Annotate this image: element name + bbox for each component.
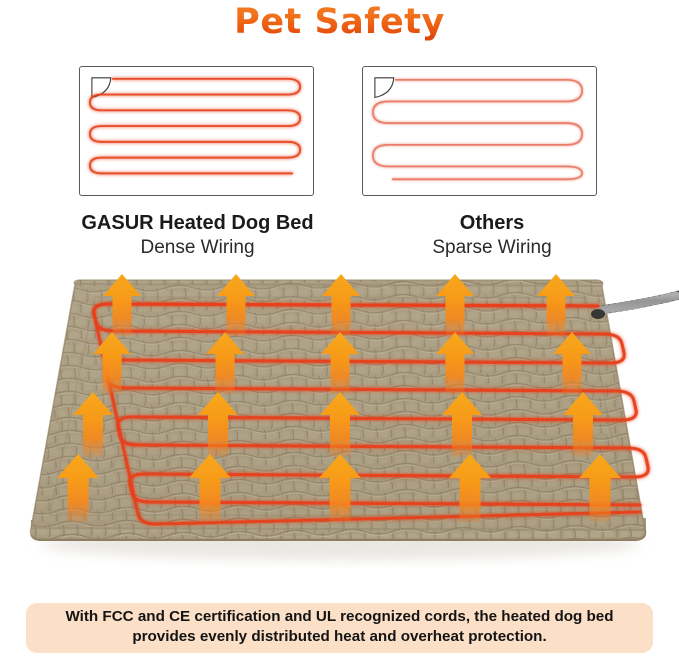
heated-dog-bed-mat [0, 262, 679, 592]
page-title: Pet Safety [0, 2, 679, 42]
label-others-title: Others [352, 211, 632, 236]
label-others-subtitle: Sparse Wiring [352, 236, 632, 260]
pet-safety-infographic: Pet Safety [0, 0, 679, 661]
cord-grommet [591, 309, 605, 319]
label-block-gasur: GASUR Heated Dog Bed Dense Wiring [40, 211, 355, 260]
folded-corner-icon [375, 78, 394, 98]
dense-wire-path [90, 79, 300, 174]
label-gasur-subtitle: Dense Wiring [40, 236, 355, 260]
certification-caption: With FCC and CE certification and UL rec… [26, 603, 653, 653]
label-gasur-title: GASUR Heated Dog Bed [40, 211, 355, 236]
dense-wiring-svg [80, 67, 313, 195]
sparse-wiring-diagram [362, 66, 597, 196]
caption-text: With FCC and CE certification and UL rec… [40, 607, 639, 647]
sparse-wire-path [373, 80, 582, 179]
dense-wiring-diagram [79, 66, 314, 196]
label-block-others: Others Sparse Wiring [352, 211, 632, 260]
mat-illustration [0, 262, 679, 592]
sparse-wiring-svg [363, 67, 596, 195]
